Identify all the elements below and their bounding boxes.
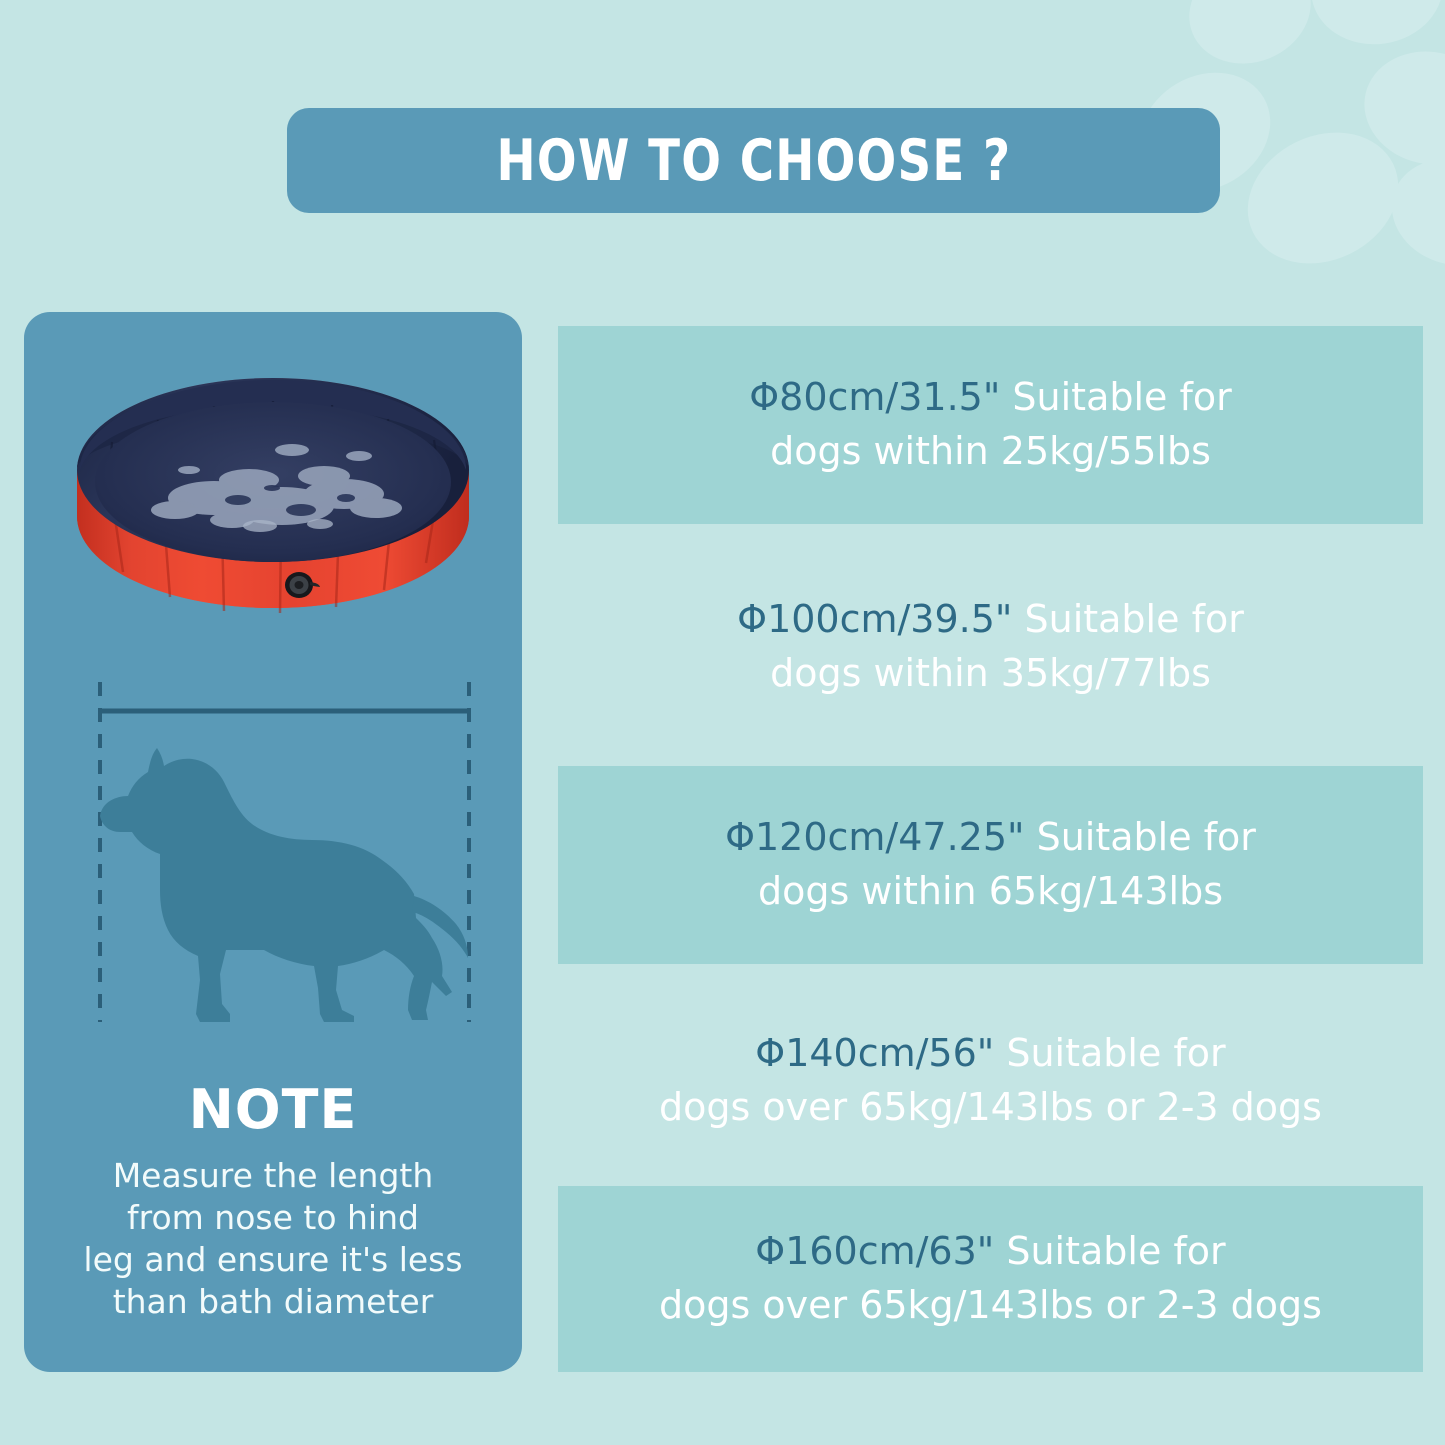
note-body: Measure the length from nose to hind leg…	[40, 1155, 506, 1324]
size-dimension: Φ80cm/31.5"	[749, 375, 1000, 419]
size-row-100[interactable]: Φ100cm/39.5" Suitable for dogs within 35…	[558, 548, 1423, 746]
note-body-line-2: from nose to hind	[127, 1198, 419, 1237]
size-description-line2: dogs over 65kg/143lbs or 2-3 dogs	[659, 1283, 1322, 1327]
note-body-line-3: leg and ensure it's less	[83, 1240, 462, 1279]
size-description-line2: dogs over 65kg/143lbs or 2-3 dogs	[659, 1085, 1322, 1129]
size-row-text: Φ100cm/39.5" Suitable for dogs within 35…	[725, 593, 1256, 701]
size-row-text: Φ120cm/47.25" Suitable for dogs within 6…	[713, 811, 1268, 919]
size-description-line2: dogs within 25kg/55lbs	[770, 429, 1211, 473]
size-description-line1: Suitable for	[1012, 597, 1243, 641]
size-row-140[interactable]: Φ140cm/56" Suitable for dogs over 65kg/1…	[558, 988, 1423, 1174]
size-description-line1: Suitable for	[1025, 815, 1256, 859]
dog-silhouette-icon	[100, 748, 468, 1022]
left-info-panel: NOTE Measure the length from nose to hin…	[24, 312, 522, 1372]
size-description-line1: Suitable for	[994, 1229, 1225, 1273]
size-row-80[interactable]: Φ80cm/31.5" Suitable for dogs within 25k…	[558, 326, 1423, 524]
size-row-120[interactable]: Φ120cm/47.25" Suitable for dogs within 6…	[558, 766, 1423, 964]
dog-measurement-diagram	[24, 674, 522, 1074]
size-description-line2: dogs within 35kg/77lbs	[770, 651, 1211, 695]
size-description-line1: Suitable for	[994, 1031, 1225, 1075]
note-block: NOTE Measure the length from nose to hin…	[24, 1082, 522, 1324]
size-row-text: Φ160cm/63" Suitable for dogs over 65kg/1…	[647, 1225, 1334, 1333]
size-dimension: Φ160cm/63"	[755, 1229, 994, 1273]
size-dimension: Φ140cm/56"	[755, 1031, 994, 1075]
size-description-line1: Suitable for	[1000, 375, 1231, 419]
size-dimension: Φ120cm/47.25"	[725, 815, 1024, 859]
product-image-foldable-pet-pool	[24, 320, 522, 680]
note-body-line-1: Measure the length	[113, 1156, 434, 1195]
size-dimension: Φ100cm/39.5"	[737, 597, 1012, 641]
note-heading: NOTE	[40, 1082, 506, 1139]
size-row-text: Φ80cm/31.5" Suitable for dogs within 25k…	[737, 371, 1244, 479]
size-description-line2: dogs within 65kg/143lbs	[758, 869, 1223, 913]
infographic-page: HOW TO CHOOSE ? Φ80cm/31.5" Suitable for…	[0, 0, 1445, 1445]
size-row-160[interactable]: Φ160cm/63" Suitable for dogs over 65kg/1…	[558, 1186, 1423, 1372]
note-body-line-4: than bath diameter	[113, 1282, 434, 1321]
size-row-text: Φ140cm/56" Suitable for dogs over 65kg/1…	[647, 1027, 1334, 1135]
